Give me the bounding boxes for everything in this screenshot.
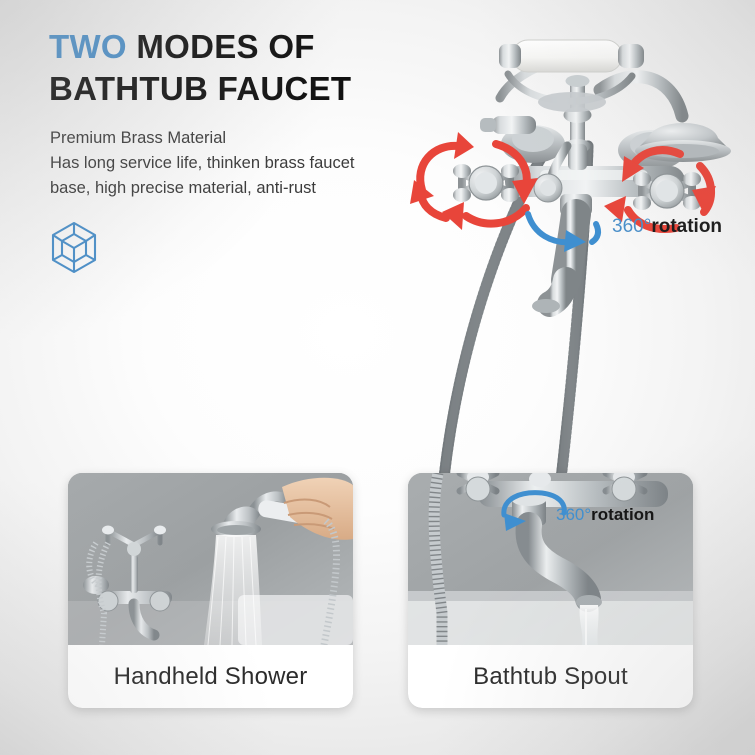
subcopy-block: Premium Brass Material Has long service … <box>50 126 450 201</box>
card-bathtub-spout[interactable]: 360°rotation Bathtub Spout <box>408 473 693 708</box>
marketing-image-canvas: TWO MODES OF BATHTUB FAUCET Premium Bras… <box>0 0 755 755</box>
handle-cross-right <box>633 172 701 210</box>
hexagon-cube-icon <box>47 220 101 278</box>
card-spout-rotation-label: 360°rotation <box>556 505 654 525</box>
subcopy-line-1: Premium Brass Material <box>50 126 450 151</box>
card-handheld-shower-label: Handheld Shower <box>114 663 308 691</box>
handle-cross-left <box>453 164 519 202</box>
headline-accent-word: TWO <box>49 28 127 65</box>
hero-rotation-word: rotation <box>651 216 722 237</box>
card-spout-rotation-word: rotation <box>591 505 654 524</box>
card-bathtub-spout-label: Bathtub Spout <box>473 663 628 691</box>
card-handheld-shower-photo <box>68 473 353 645</box>
hose-connector-left <box>480 116 536 134</box>
hero-rotation-label: 360°rotation <box>612 216 722 238</box>
subcopy-line-3: base, high precise material, anti-rust <box>50 176 450 201</box>
hero-faucet-image <box>400 18 755 518</box>
card-bathtub-spout-caption: Bathtub Spout <box>408 645 693 708</box>
card-handheld-shower-caption: Handheld Shower <box>68 645 353 708</box>
card-bathtub-spout-photo <box>408 473 693 645</box>
subcopy-line-2: Has long service life, thinken brass fau… <box>50 151 450 176</box>
card-spout-rotation-degrees: 360° <box>556 505 591 524</box>
headline-line-1-rest: MODES OF <box>127 28 315 65</box>
water-stream <box>580 605 599 645</box>
card-handheld-shower[interactable]: Handheld Shower <box>68 473 353 708</box>
hero-rotation-degrees: 360° <box>612 216 651 237</box>
